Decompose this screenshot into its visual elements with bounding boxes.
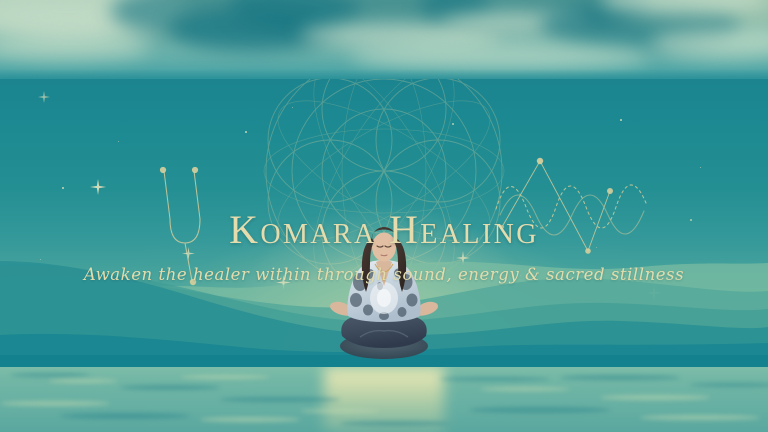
- horizon-fade: [0, 69, 768, 79]
- star-sparkle: [620, 119, 622, 121]
- water-ripple: [0, 401, 110, 406]
- water-ripple: [48, 379, 118, 383]
- water-ripple: [60, 413, 190, 419]
- water-layer: [0, 367, 768, 432]
- cloud-shape: [650, 28, 768, 58]
- constellation-dot: [537, 158, 543, 164]
- star-glint-icon: [90, 179, 106, 195]
- water-ripple: [120, 385, 220, 390]
- star-sparkle: [118, 141, 119, 142]
- star-glint-icon: [38, 91, 50, 103]
- tagline: Awaken the healer within through sound, …: [0, 265, 768, 284]
- water-ripple: [340, 421, 450, 426]
- water-ripple: [640, 415, 760, 420]
- star-sparkle: [700, 167, 701, 168]
- star-sparkle: [292, 107, 293, 108]
- water-ripple: [440, 377, 550, 381]
- water-ripple: [180, 375, 270, 379]
- sky-layer: [0, 0, 768, 79]
- water-ripple: [600, 395, 710, 400]
- fork-tip-dot: [192, 167, 198, 173]
- komara-healing-banner: Komara Healing Awaken the healer within …: [0, 0, 768, 432]
- star-sparkle: [62, 187, 64, 189]
- water-ripple: [220, 397, 340, 402]
- fork-tip-dot: [160, 167, 166, 173]
- water-ripple: [480, 387, 570, 391]
- banner-panel: Komara Healing Awaken the healer within …: [0, 79, 768, 367]
- blouse-highlight: [370, 282, 398, 314]
- page-title: Komara Healing: [0, 206, 768, 253]
- water-ripple: [10, 373, 90, 377]
- water-ripple: [560, 375, 680, 380]
- water-ripple: [690, 383, 768, 387]
- water-ripple: [470, 407, 610, 413]
- water-ripple: [300, 409, 380, 413]
- cloud-shape: [350, 44, 650, 70]
- star-sparkle: [245, 131, 247, 133]
- constellation-dot: [607, 188, 613, 194]
- star-sparkle: [452, 123, 454, 125]
- cloud-shape: [0, 34, 150, 60]
- water-ripple: [200, 417, 300, 422]
